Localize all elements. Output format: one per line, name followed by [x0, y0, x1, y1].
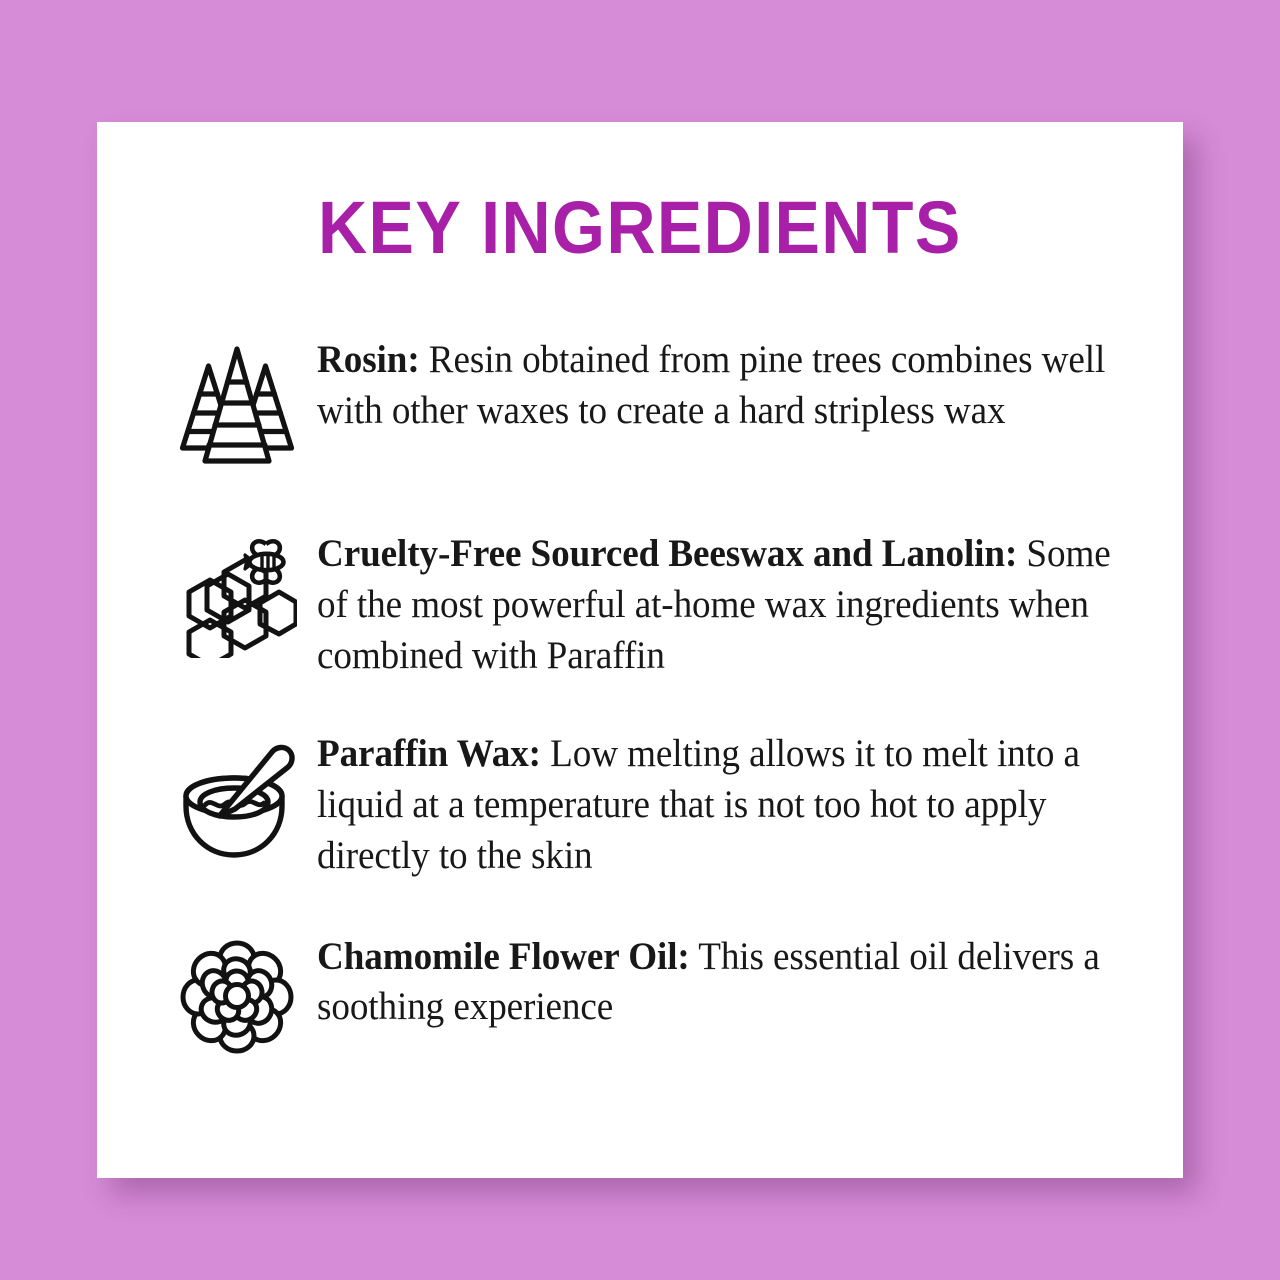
- ingredient-name: Chamomile Flower Oil:: [317, 934, 690, 978]
- bowl-with-spatula-icon: [178, 738, 296, 860]
- ingredient-item-chamomile-flower-oil: Chamomile Flower Oil: This essential oil…: [97, 931, 1183, 1055]
- ingredient-text: Paraffin Wax: Low melting allows it to m…: [317, 728, 1121, 880]
- text-cell: Cruelty-Free Sourced Beeswax and Lanolin…: [317, 528, 1121, 680]
- ingredient-text: Chamomile Flower Oil: This essential oil…: [317, 931, 1121, 1033]
- text-cell: Rosin: Resin obtained from pine trees co…: [317, 334, 1121, 436]
- ingredient-item-rosin: Rosin: Resin obtained from pine trees co…: [97, 334, 1183, 466]
- text-cell: Chamomile Flower Oil: This essential oil…: [317, 931, 1121, 1033]
- poster-canvas: KEY INGREDIENTS: [0, 0, 1280, 1280]
- icon-cell: [157, 334, 317, 466]
- ingredient-item-paraffin-wax: Paraffin Wax: Low melting allows it to m…: [97, 728, 1183, 880]
- ingredients-card: KEY INGREDIENTS: [97, 122, 1183, 1178]
- icon-cell: [157, 931, 317, 1055]
- title-container: KEY INGREDIENTS: [97, 194, 1183, 262]
- pine-trees-icon: [178, 344, 296, 466]
- ingredient-name: Rosin:: [317, 337, 420, 381]
- chamomile-flower-icon: [179, 939, 295, 1055]
- ingredient-text: Cruelty-Free Sourced Beeswax and Lanolin…: [317, 528, 1121, 680]
- ingredient-text: Rosin: Resin obtained from pine trees co…: [317, 334, 1121, 436]
- text-cell: Paraffin Wax: Low melting allows it to m…: [317, 728, 1121, 880]
- honeycomb-bee-icon: [177, 536, 297, 658]
- page-title: KEY INGREDIENTS: [318, 194, 962, 262]
- ingredient-item-beeswax-lanolin: Cruelty-Free Sourced Beeswax and Lanolin…: [97, 528, 1183, 680]
- icon-cell: [157, 728, 317, 860]
- ingredient-description: Resin obtained from pine trees combines …: [317, 337, 1105, 432]
- ingredient-name: Paraffin Wax:: [317, 731, 541, 775]
- ingredient-name: Cruelty-Free Sourced Beeswax and Lanolin…: [317, 531, 1017, 575]
- ingredient-list: Rosin: Resin obtained from pine trees co…: [97, 334, 1183, 1055]
- icon-cell: [157, 528, 317, 658]
